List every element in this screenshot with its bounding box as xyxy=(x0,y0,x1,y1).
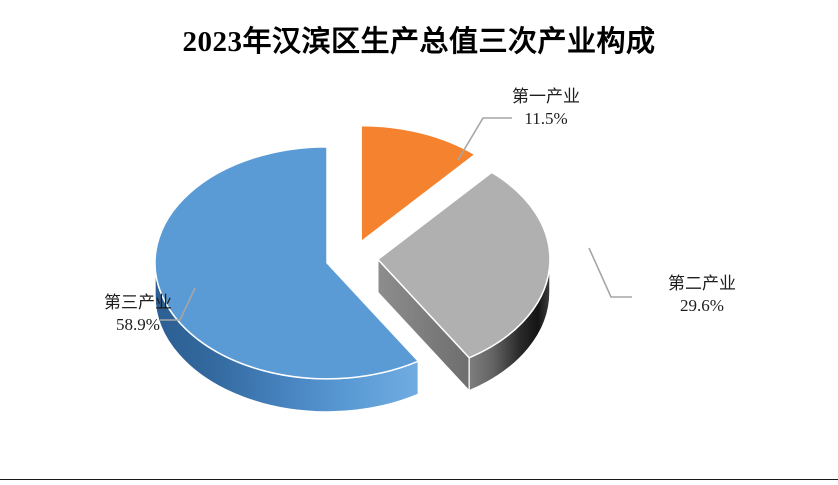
pie-label-primary-value: 11.5% xyxy=(466,108,626,130)
pie-label-secondary: 第二产业 29.6% xyxy=(622,273,782,318)
pie-label-tertiary-value: 58.9% xyxy=(58,314,218,336)
pie-label-primary-name: 第一产业 xyxy=(512,87,580,106)
pie-label-secondary-value: 29.6% xyxy=(622,295,782,317)
pie-label-secondary-name: 第二产业 xyxy=(668,274,736,293)
pie-label-tertiary: 第三产业 58.9% xyxy=(58,292,218,337)
pie-label-tertiary-name: 第三产业 xyxy=(104,293,172,312)
pie-chart-figure: 2023年汉滨区生产总值三次产业构成 xyxy=(0,0,838,485)
pie-chart-canvas xyxy=(0,0,838,485)
pie-label-primary: 第一产业 11.5% xyxy=(466,86,626,131)
bottom-divider xyxy=(0,479,838,480)
